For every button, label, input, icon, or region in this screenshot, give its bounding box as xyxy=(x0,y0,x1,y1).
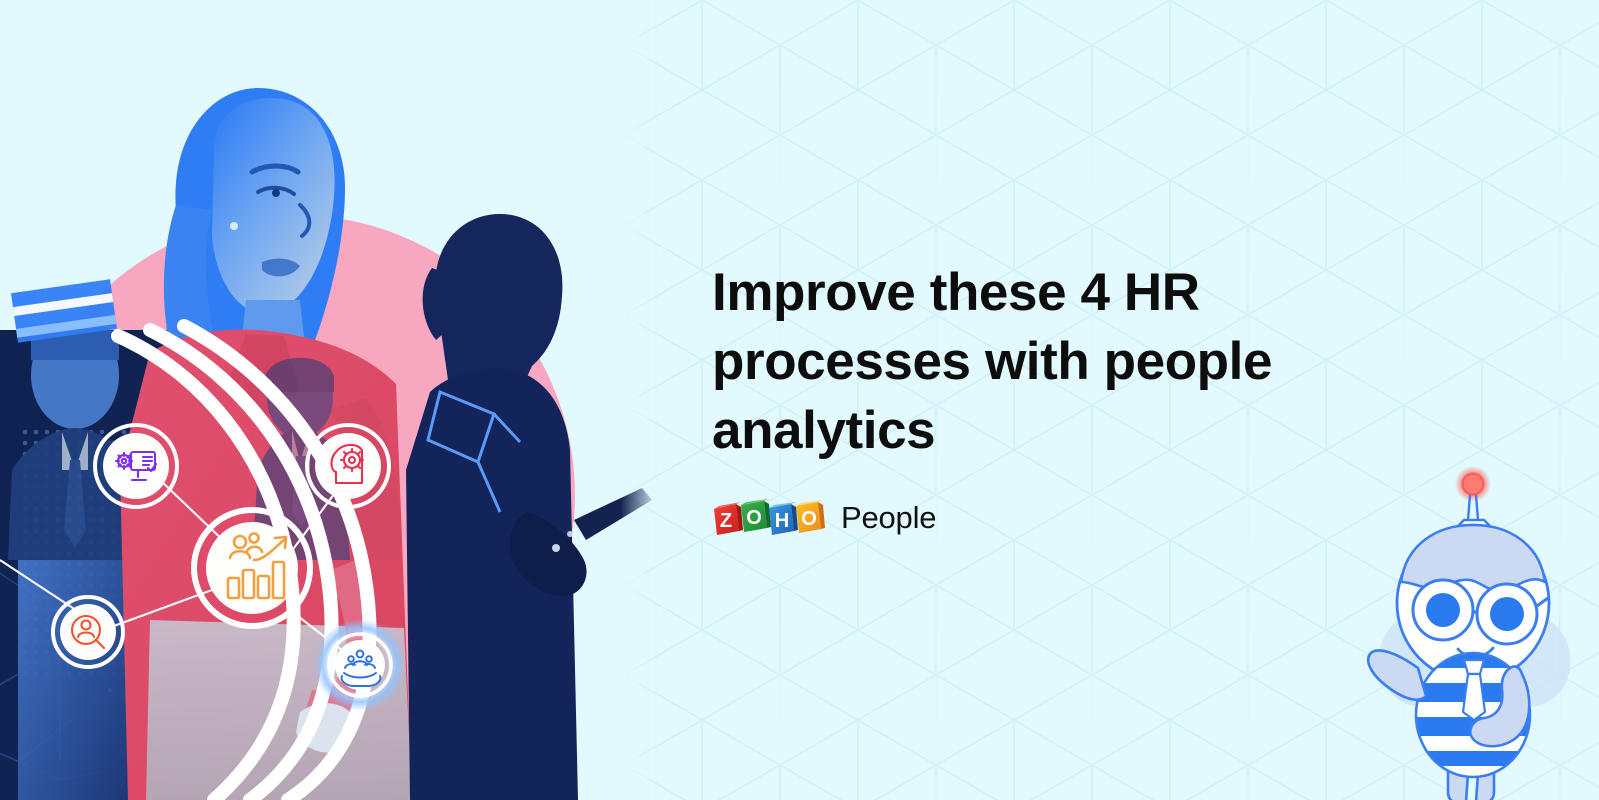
headline-line-3: analytics xyxy=(712,401,935,460)
hero-illustration xyxy=(0,0,660,800)
zoho-logo: Z O H xyxy=(712,497,828,537)
node-analytics xyxy=(194,510,310,626)
svg-text:Z: Z xyxy=(720,510,732,532)
robot-eye-right xyxy=(1490,597,1524,631)
svg-text:O: O xyxy=(746,507,762,529)
zoho-people-lockup: Z O H xyxy=(712,497,1372,537)
svg-text:O: O xyxy=(801,508,817,530)
banner-stage: Improve these 4 HR processes with people… xyxy=(0,0,1599,800)
node-search xyxy=(53,597,123,667)
robot-tie xyxy=(1463,660,1485,720)
zoho-letter-o-2: O xyxy=(796,500,825,533)
zia-robot-mascot xyxy=(1352,462,1592,800)
hero-copy: Improve these 4 HR processes with people… xyxy=(712,258,1372,537)
headline-line-1: Improve these 4 HR xyxy=(712,263,1200,322)
node-dashboard xyxy=(95,425,177,507)
robot-eye-left xyxy=(1426,593,1460,627)
product-name: People xyxy=(841,502,936,533)
robot-antenna xyxy=(1455,466,1491,526)
node-care xyxy=(314,619,406,711)
zoho-letter-h: H xyxy=(769,502,798,535)
page-title: Improve these 4 HR processes with people… xyxy=(712,258,1372,465)
node-mind xyxy=(307,425,389,507)
zoho-letter-z: Z xyxy=(714,502,743,535)
zoho-letter-o-1: O xyxy=(741,499,771,532)
svg-text:H: H xyxy=(775,510,789,532)
headline-line-2: processes with people xyxy=(712,332,1272,391)
